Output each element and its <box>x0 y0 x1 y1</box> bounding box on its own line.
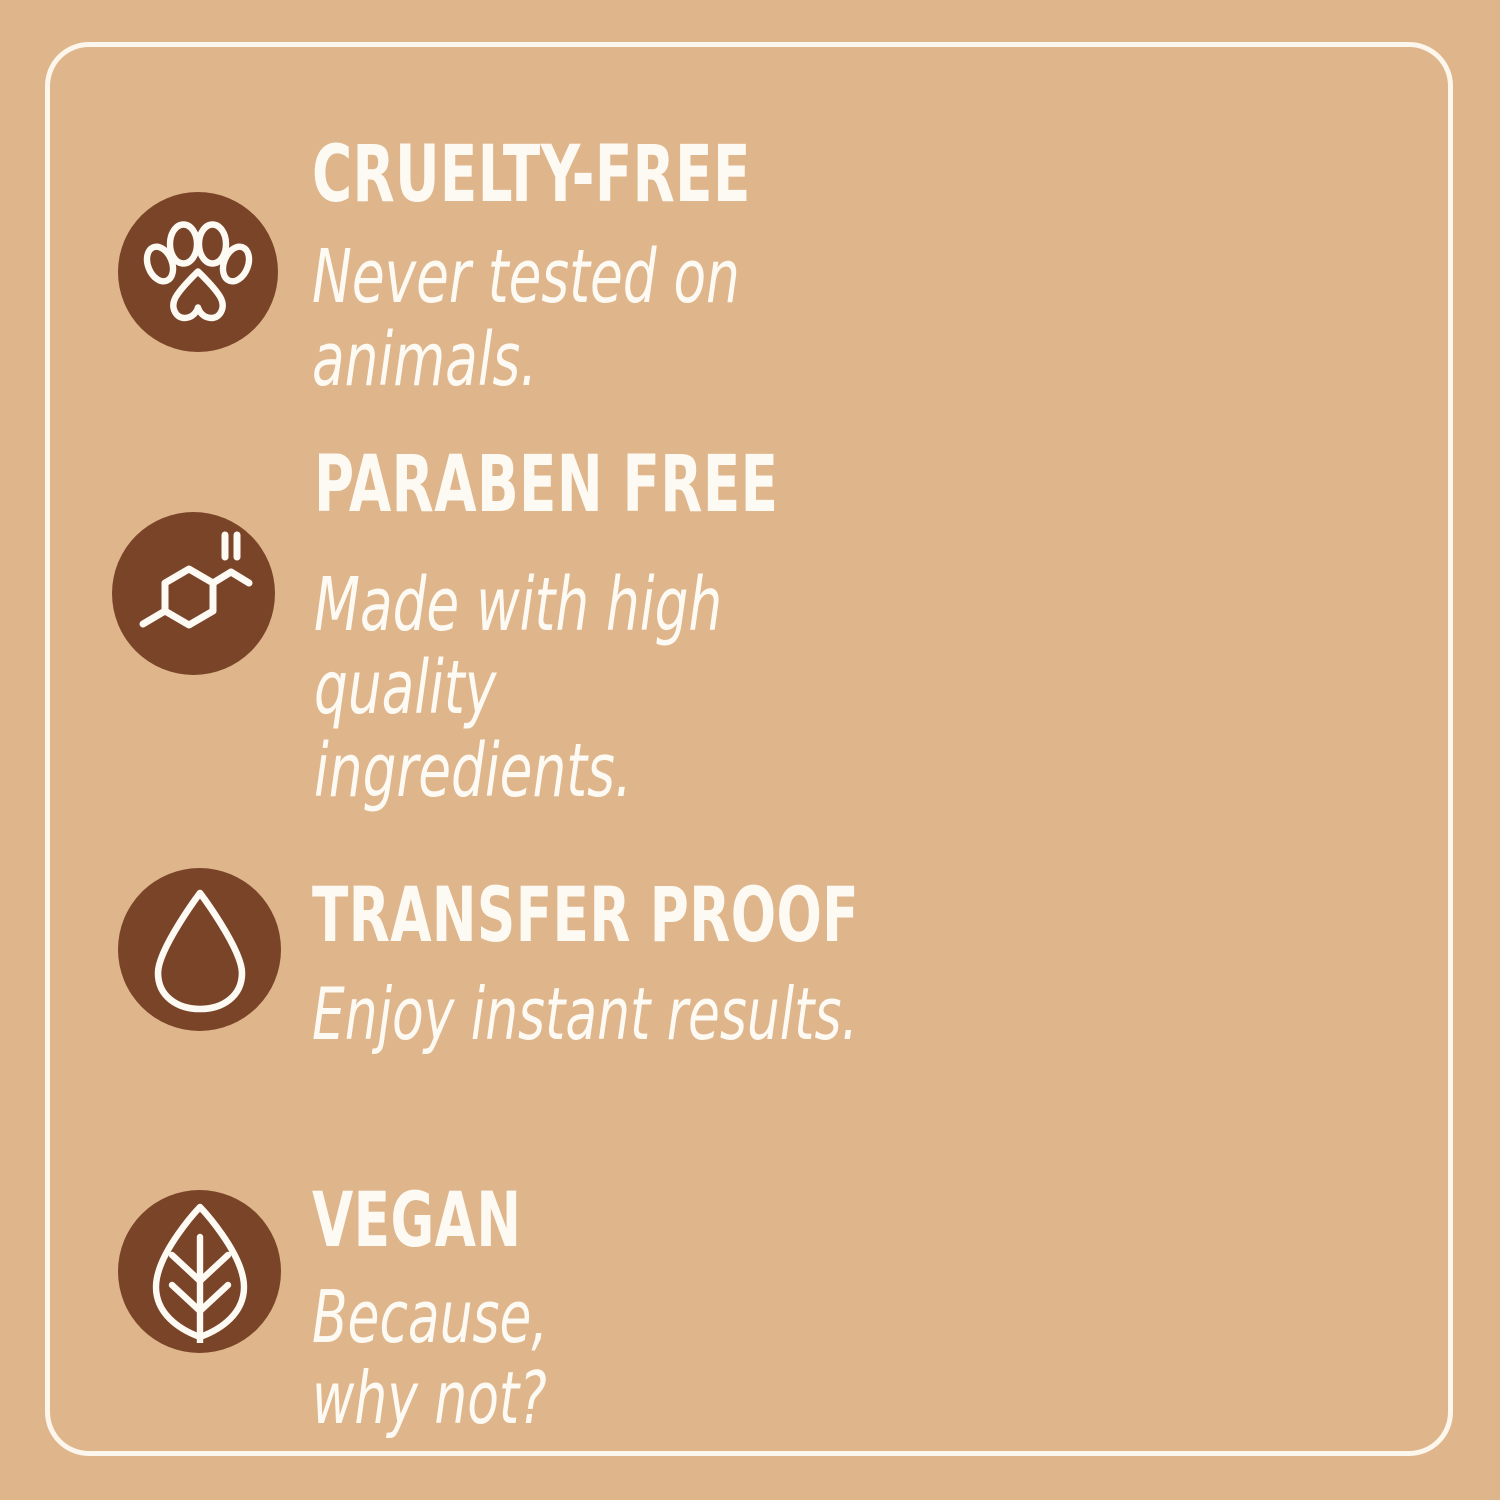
feature-title: VEGAN <box>312 1185 542 1255</box>
droplet-icon <box>144 887 256 1013</box>
feature-title: PARABEN FREE <box>314 450 778 522</box>
feature-title: TRANSFER PROOF <box>312 880 859 950</box>
molecule-icon <box>131 531 256 656</box>
feature-subtitle: Made with high quality ingredients. <box>314 564 790 813</box>
product-benefits-card: CRUELTY-FREE Never tested on animals. <box>0 0 1500 1500</box>
feature-text-vegan: VEGAN Because, why not? <box>312 1185 607 1438</box>
feature-subtitle: Because, why not? <box>312 1277 548 1438</box>
leaf-icon <box>144 1201 256 1343</box>
feature-subtitle: Enjoy instant results. <box>312 974 873 1055</box>
feature-subtitle: Never tested on animals. <box>312 236 762 402</box>
feature-title: CRUELTY-FREE <box>312 140 751 212</box>
paw-icon <box>139 213 257 331</box>
droplet-icon-badge <box>118 868 281 1031</box>
feature-text-cruelty-free: CRUELTY-FREE Never tested on animals. <box>312 140 875 402</box>
leaf-icon-badge <box>118 1190 281 1353</box>
feature-text-transfer-proof: TRANSFER PROOF Enjoy instant results. <box>312 880 1013 1055</box>
feature-text-paraben-free: PARABEN FREE Made with high quality ingr… <box>314 450 909 812</box>
paw-icon-badge <box>118 192 278 352</box>
molecule-icon-badge <box>112 512 275 675</box>
